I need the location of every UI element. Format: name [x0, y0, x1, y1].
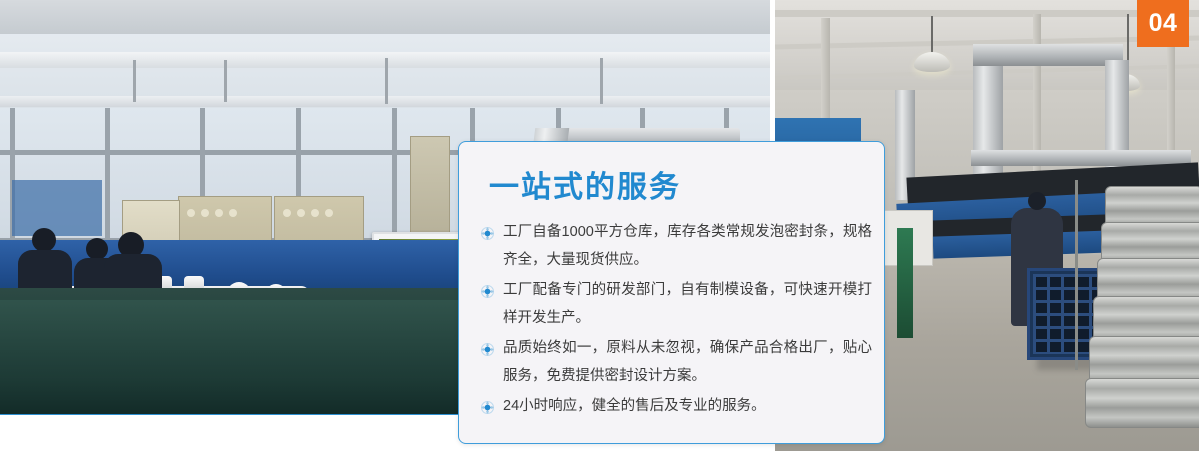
photo-brace — [385, 58, 388, 104]
target-dot-icon — [481, 343, 494, 356]
photo-right-worker-head — [1028, 192, 1046, 210]
photo-right-rafter — [775, 10, 1199, 17]
service-info-card: 一站式的服务 工厂自备1000平方仓库，库存各类常规发泡密封条，规格齐全，大量现… — [458, 141, 885, 444]
photo-ceiling-lamp — [914, 52, 950, 72]
list-item-text: 品质始终如一，原料从未忽视，确保产品合格出厂，贴心服务，免费提供密封设计方案。 — [503, 340, 872, 384]
target-dot-icon — [481, 227, 494, 240]
list-item: 工厂自备1000平方仓库，库存各类常规发泡密封条，规格齐全，大量现货供应。 — [481, 218, 872, 274]
photo-worker-head — [32, 228, 56, 252]
photo-cabinet-knobs — [283, 209, 333, 217]
list-item: 24小时响应，健全的售后及专业的服务。 — [481, 392, 872, 420]
photo-brace — [133, 60, 136, 102]
list-item-text: 工厂自备1000平方仓库，库存各类常规发泡密封条，规格齐全，大量现货供应。 — [503, 224, 872, 268]
photo-right-duct-horizontal — [973, 44, 1123, 66]
photo-blue-pane — [12, 180, 102, 236]
banner-stage: 04 一站式的服务 工厂自备1000平方仓库，库存各类常规发泡密封条，规格齐全，… — [0, 0, 1199, 451]
photo-cabinet-knobs — [187, 209, 237, 217]
card-title: 一站式的服务 — [489, 162, 681, 206]
step-number-badge: 04 — [1137, 0, 1189, 47]
photo-brace — [224, 60, 227, 102]
photo-worker-head — [86, 238, 108, 260]
list-item: 工厂配备专门的研发部门，自有制模设备，可快速开模打样开发生产。 — [481, 276, 872, 332]
photo-coil-strap — [1075, 180, 1078, 370]
photo-brace — [600, 58, 603, 104]
photo-ceiling — [0, 0, 770, 34]
photo-green-post — [897, 228, 913, 338]
photo-coil — [1089, 336, 1199, 384]
photo-lamp-cord — [931, 16, 933, 54]
photo-coil — [1085, 378, 1199, 428]
list-item: 品质始终如一，原料从未忽视，确保产品合格出厂，贴心服务，免费提供密封设计方案。 — [481, 334, 872, 390]
target-dot-icon — [481, 285, 494, 298]
service-bullet-list: 工厂自备1000平方仓库，库存各类常规发泡密封条，规格齐全，大量现货供应。 工厂… — [481, 218, 872, 422]
list-item-text: 24小时响应，健全的售后及专业的服务。 — [503, 398, 766, 414]
list-item-text: 工厂配备专门的研发部门，自有制模设备，可快速开模打样开发生产。 — [503, 282, 872, 326]
target-dot-icon — [481, 401, 494, 414]
